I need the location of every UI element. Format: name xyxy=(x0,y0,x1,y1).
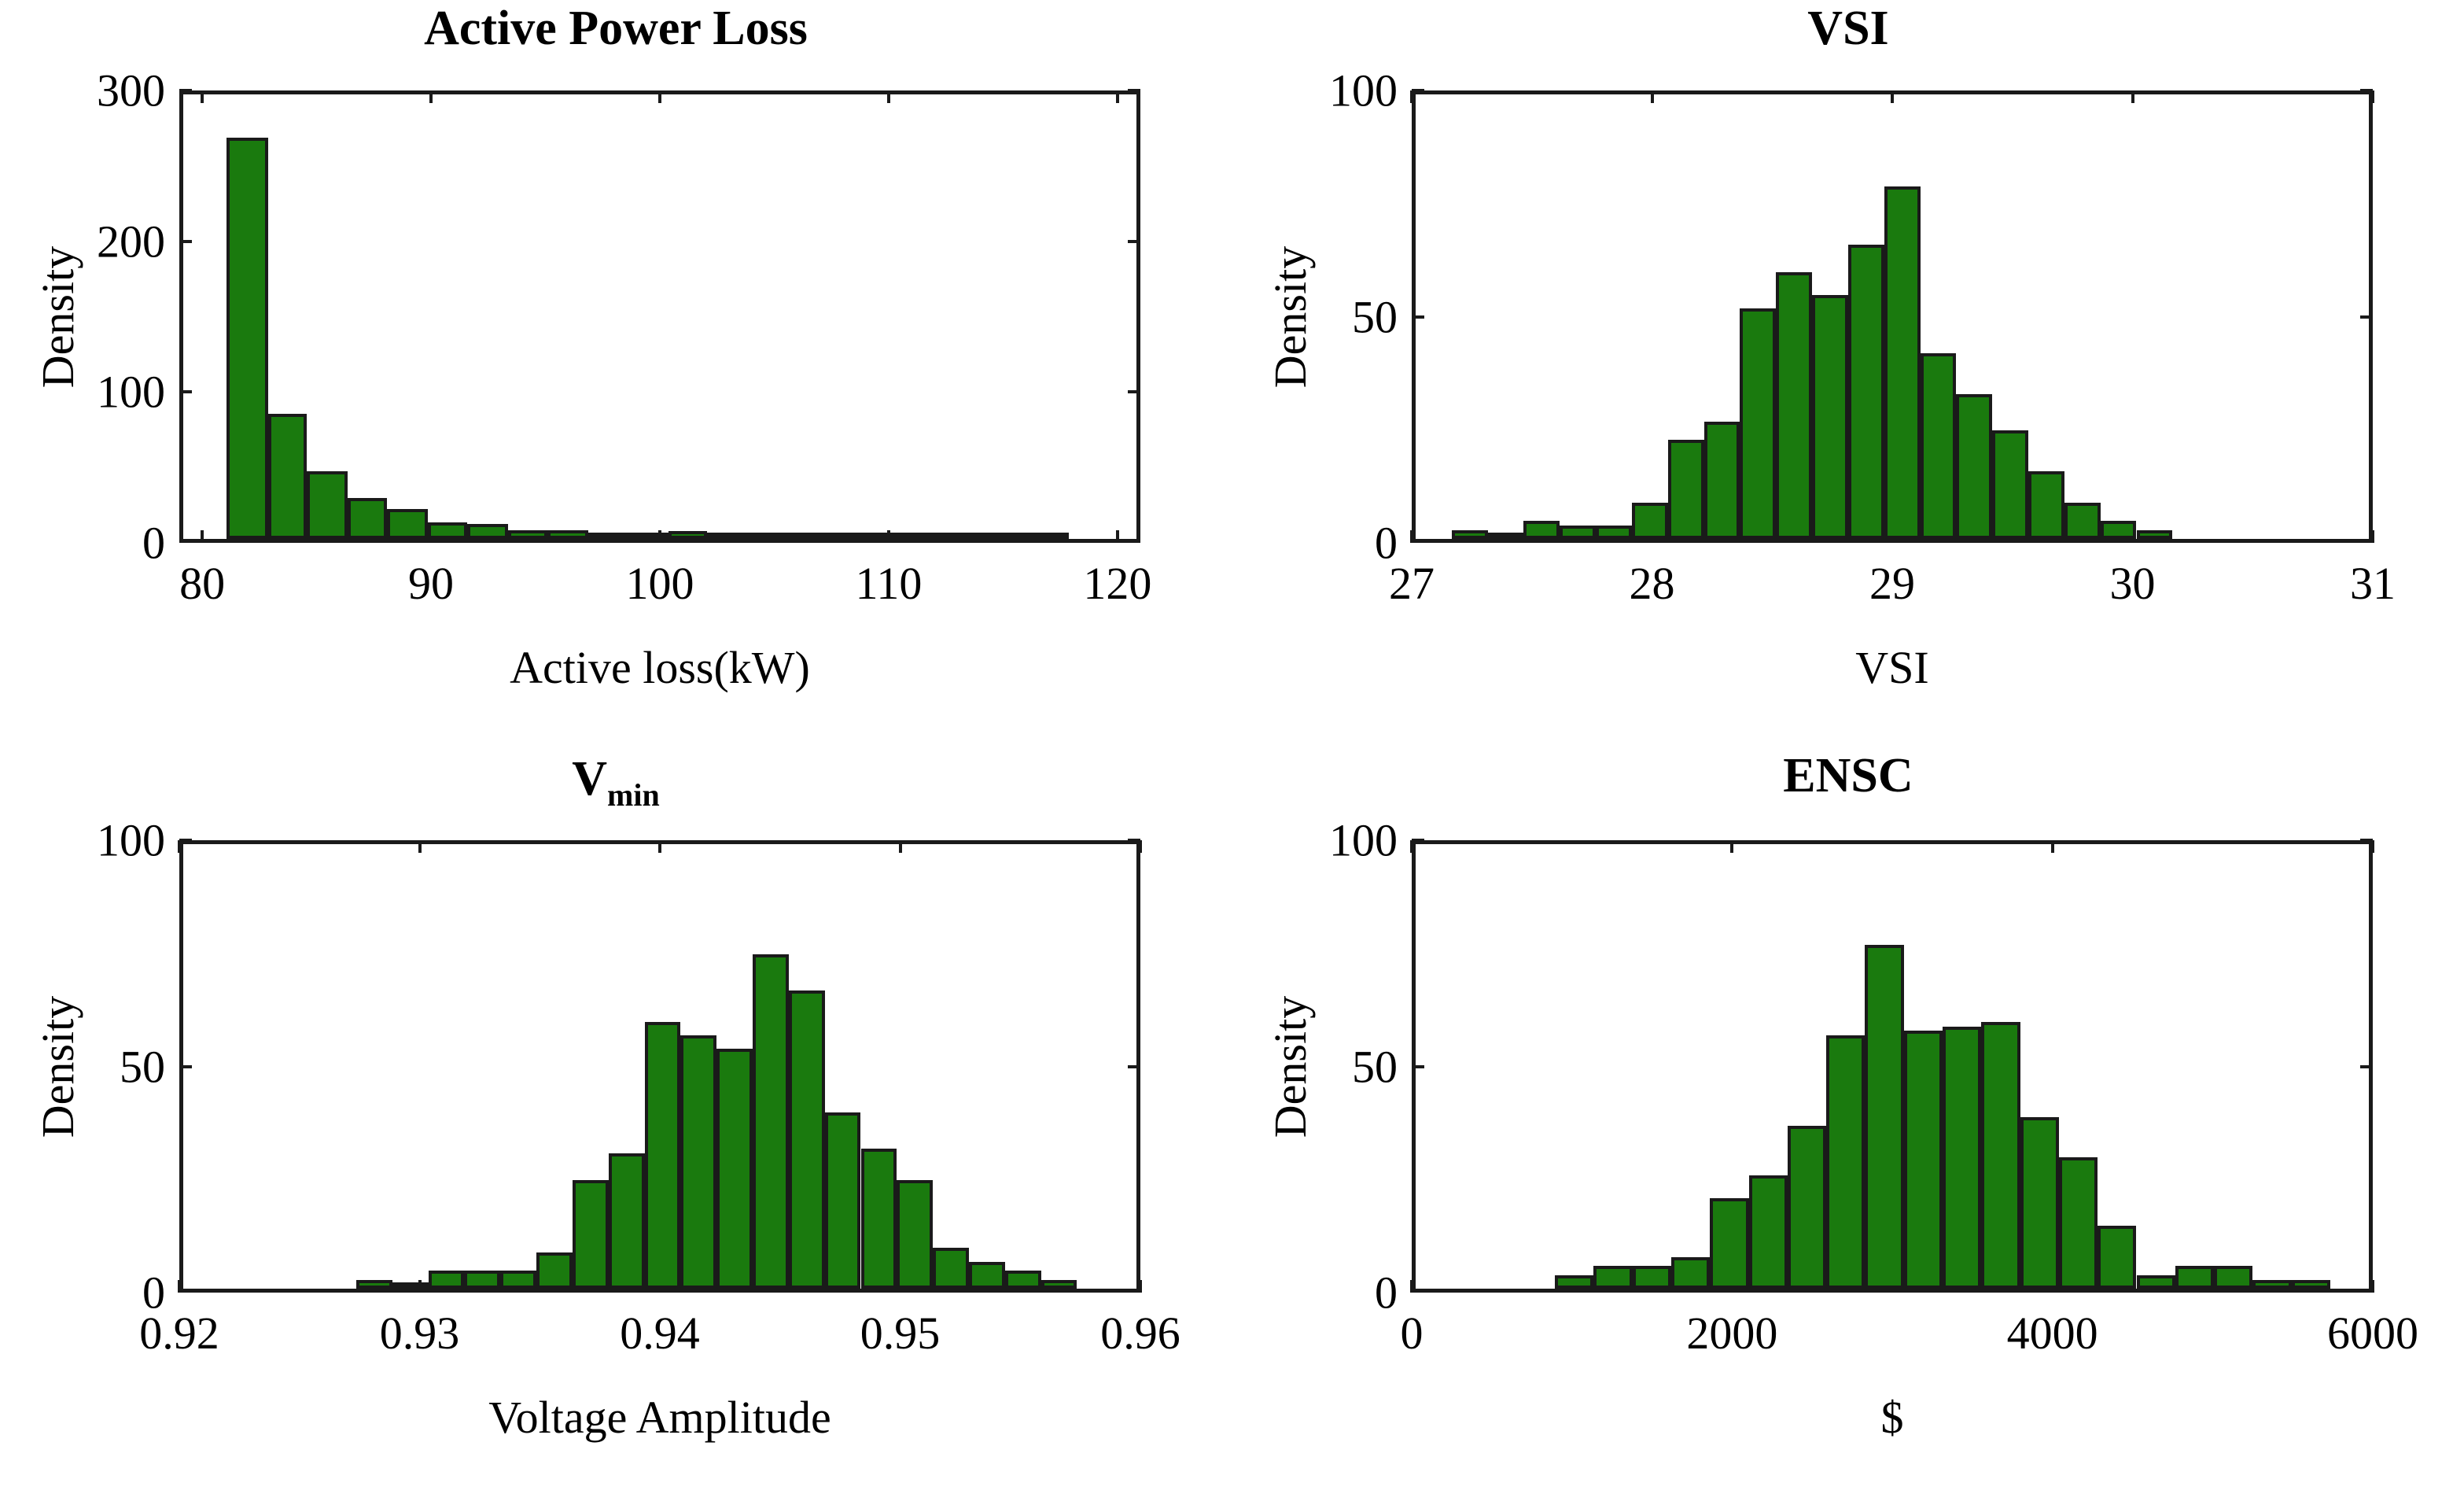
y-tick-mark xyxy=(2360,315,2373,319)
histogram-bar xyxy=(1596,526,1632,539)
histogram-bar xyxy=(933,1248,969,1289)
histogram-bar xyxy=(1555,1275,1593,1289)
x-tick-mark xyxy=(1410,530,1413,543)
histogram-bar xyxy=(467,524,508,539)
y-tick-label: 0 xyxy=(142,1267,165,1319)
histogram-bar xyxy=(645,1022,681,1289)
histogram-bar xyxy=(573,1180,609,1289)
histogram-bar xyxy=(1041,1280,1077,1289)
y-tick-mark xyxy=(1128,240,1140,243)
y-tick-mark xyxy=(179,839,192,842)
bar-group-active-power-loss xyxy=(183,94,1136,539)
histogram-bar xyxy=(787,533,828,539)
x-tick-mark xyxy=(2371,90,2374,103)
histogram-bar xyxy=(547,530,588,540)
x-tick-label: 80 xyxy=(179,557,225,610)
y-tick-label: 100 xyxy=(1329,814,1398,867)
x-tick-label: 30 xyxy=(2110,557,2156,610)
x-tick-label: 90 xyxy=(408,557,454,610)
x-axis-title-ensc: $ xyxy=(1881,1391,1904,1444)
x-tick-mark xyxy=(201,90,204,103)
histogram-bar xyxy=(1812,295,1848,540)
histogram-bar xyxy=(1710,1198,1748,1289)
y-tick-label: 100 xyxy=(1329,65,1398,117)
x-tick-mark xyxy=(1651,90,1654,103)
x-tick-label: 0 xyxy=(1401,1307,1424,1359)
histogram-bar xyxy=(464,1271,500,1289)
histogram-bar xyxy=(1593,1266,1632,1289)
plot-area-ensc xyxy=(1412,840,2373,1293)
histogram-bar xyxy=(2020,1117,2059,1289)
x-tick-mark xyxy=(887,90,890,103)
histogram-bar xyxy=(1776,272,1812,539)
histogram-figure: Active Power Loss 8090100110120010020030… xyxy=(0,0,2464,1494)
x-tick-label: 6000 xyxy=(2327,1307,2418,1359)
y-tick-label: 50 xyxy=(1352,1040,1398,1093)
histogram-bar xyxy=(348,498,386,539)
y-tick-mark xyxy=(2360,1065,2373,1068)
histogram-bar xyxy=(428,522,466,539)
histogram-bar xyxy=(2098,1226,2136,1289)
histogram-bar xyxy=(969,1262,1005,1289)
histogram-bar xyxy=(828,533,867,539)
y-tick-mark xyxy=(2360,89,2373,92)
histogram-bar xyxy=(1904,1031,1943,1289)
bar-group-vsi xyxy=(1416,94,2369,539)
x-tick-label: 100 xyxy=(626,557,694,610)
x-tick-mark xyxy=(2371,840,2374,853)
histogram-bar xyxy=(2028,471,2064,539)
histogram-bar xyxy=(2101,521,2137,539)
histogram-bar xyxy=(1560,526,1596,539)
x-tick-label: 0.95 xyxy=(860,1307,941,1359)
histogram-bar xyxy=(668,531,707,539)
histogram-bar xyxy=(2292,1280,2330,1289)
histogram-bar xyxy=(867,533,908,539)
histogram-bar xyxy=(1740,308,1776,539)
histogram-bar xyxy=(1632,503,1668,539)
y-tick-label: 200 xyxy=(97,215,165,267)
x-tick-mark xyxy=(1410,840,1413,853)
x-tick-mark xyxy=(2371,530,2374,543)
y-tick-mark xyxy=(1128,390,1140,393)
x-tick-label: 2000 xyxy=(1686,1307,1777,1359)
histogram-bar xyxy=(2064,503,2101,539)
histogram-bar xyxy=(268,414,307,539)
panel-title-vsi: VSI xyxy=(1232,3,2464,54)
y-tick-mark xyxy=(1412,839,1424,842)
histogram-bar xyxy=(789,990,825,1289)
histogram-bar xyxy=(588,533,627,539)
panel-title-active-power-loss: Active Power Loss xyxy=(0,3,1232,54)
bar-group-vmin xyxy=(183,844,1136,1289)
x-axis-title-vmin: Voltage Amplitude xyxy=(488,1391,831,1444)
histogram-bar xyxy=(1884,186,1921,540)
histogram-bar xyxy=(1826,1035,1865,1289)
histogram-bar xyxy=(749,533,787,539)
panel-ensc: ENSC 0200040006000050100 $ Density xyxy=(1232,747,2464,1494)
histogram-bar xyxy=(1848,245,1884,539)
histogram-bar xyxy=(1671,1257,1710,1289)
panel-vsi: VSI 2728293031050100 VSI Density xyxy=(1232,0,2464,747)
histogram-bar xyxy=(897,1180,933,1289)
histogram-bar xyxy=(1865,945,1903,1289)
histogram-bar xyxy=(989,533,1027,539)
histogram-bar xyxy=(1005,1271,1041,1289)
histogram-bar xyxy=(825,1112,861,1289)
histogram-bar xyxy=(753,954,789,1289)
bar-group-ensc xyxy=(1416,844,2369,1289)
histogram-bar xyxy=(680,1035,716,1289)
panel-active-power-loss: Active Power Loss 8090100110120010020030… xyxy=(0,0,1232,747)
plot-area-active-power-loss xyxy=(179,90,1140,543)
x-axis-title-active-power-loss: Active loss(kW) xyxy=(510,641,810,694)
y-tick-mark xyxy=(1128,89,1140,92)
histogram-bar xyxy=(1956,394,1992,539)
x-tick-mark xyxy=(1730,840,1733,853)
x-tick-mark xyxy=(1891,90,1894,103)
x-tick-label: 0.93 xyxy=(380,1307,460,1359)
histogram-bar xyxy=(1921,353,1957,539)
histogram-bar xyxy=(1668,440,1704,540)
x-tick-label: 0.96 xyxy=(1100,1307,1180,1359)
y-tick-mark xyxy=(1128,1065,1140,1068)
x-tick-mark xyxy=(899,840,902,853)
histogram-bar xyxy=(1633,1266,1671,1289)
y-tick-mark xyxy=(179,1065,192,1068)
histogram-bar xyxy=(1523,521,1560,539)
x-tick-label: 31 xyxy=(2350,557,2396,610)
histogram-bar xyxy=(1788,1126,1826,1289)
x-tick-mark xyxy=(658,90,661,103)
histogram-bar xyxy=(536,1252,573,1289)
x-tick-mark xyxy=(1139,1280,1142,1293)
panel-vmin: Vmin 0.920.930.940.950.96050100 Voltage … xyxy=(0,747,1232,1494)
histogram-bar xyxy=(387,509,428,539)
x-tick-mark xyxy=(1116,530,1119,543)
histogram-bar xyxy=(1992,430,2028,539)
y-tick-mark xyxy=(1412,315,1424,319)
x-axis-title-vsi: VSI xyxy=(1855,641,1928,694)
x-tick-mark xyxy=(1139,840,1142,853)
y-axis-title-active-power-loss: Density xyxy=(31,245,84,387)
y-tick-label: 100 xyxy=(97,366,165,419)
histogram-bar xyxy=(2214,1266,2252,1289)
x-tick-label: 4000 xyxy=(2007,1307,2098,1359)
y-tick-label: 100 xyxy=(97,814,165,867)
x-tick-mark xyxy=(178,1280,181,1293)
x-tick-label: 0.94 xyxy=(620,1307,700,1359)
histogram-bar xyxy=(1028,533,1069,539)
y-tick-mark xyxy=(1128,839,1140,842)
x-tick-label: 29 xyxy=(1869,557,1915,610)
histogram-bar xyxy=(861,1149,897,1289)
x-tick-mark xyxy=(2131,90,2134,103)
histogram-bar xyxy=(1749,1175,1788,1289)
histogram-bar xyxy=(500,1271,536,1289)
plot-area-vsi xyxy=(1412,90,2373,543)
y-tick-mark xyxy=(179,390,192,393)
histogram-bar xyxy=(627,533,668,539)
histogram-bar xyxy=(508,530,547,540)
y-tick-mark xyxy=(179,240,192,243)
histogram-bar xyxy=(2137,530,2173,540)
x-tick-mark xyxy=(1410,1280,1413,1293)
histogram-bar xyxy=(2175,1266,2214,1289)
histogram-bar xyxy=(307,471,348,539)
y-axis-title-ensc: Density xyxy=(1264,995,1317,1137)
y-tick-label: 0 xyxy=(142,517,165,570)
y-tick-label: 50 xyxy=(1352,290,1398,343)
x-tick-mark xyxy=(1116,90,1119,103)
y-tick-label: 50 xyxy=(120,1040,165,1093)
y-tick-label: 0 xyxy=(1375,517,1398,570)
y-tick-mark xyxy=(2360,839,2373,842)
y-tick-label: 300 xyxy=(97,65,165,117)
y-tick-mark xyxy=(179,89,192,92)
x-tick-label: 120 xyxy=(1083,557,1151,610)
histogram-bar xyxy=(1452,530,1488,540)
panel-title-vmin: Vmin xyxy=(0,754,1232,812)
histogram-bar xyxy=(1981,1022,2020,1289)
histogram-bar xyxy=(1704,422,1740,540)
x-tick-mark xyxy=(429,90,433,103)
panel-title-vmin-subscript: min xyxy=(607,777,660,813)
y-axis-title-vmin: Density xyxy=(31,995,84,1137)
panel-title-ensc: ENSC xyxy=(1232,751,2464,802)
x-tick-label: 28 xyxy=(1630,557,1675,610)
histogram-bar xyxy=(716,1049,753,1289)
plot-area-vmin xyxy=(179,840,1140,1293)
histogram-bar xyxy=(1488,533,1524,539)
x-tick-mark xyxy=(2051,840,2054,853)
histogram-bar xyxy=(429,1271,465,1289)
x-tick-mark xyxy=(178,840,181,853)
x-tick-mark xyxy=(1410,90,1413,103)
x-tick-mark xyxy=(658,840,661,853)
x-tick-mark xyxy=(201,530,204,543)
x-tick-label: 110 xyxy=(856,557,923,610)
histogram-bar xyxy=(609,1153,645,1289)
histogram-bar xyxy=(707,533,748,539)
y-tick-label: 0 xyxy=(1375,1267,1398,1319)
panel-title-vmin-main: V xyxy=(572,752,607,806)
histogram-bar xyxy=(2137,1275,2175,1289)
y-axis-title-vsi: Density xyxy=(1264,245,1317,387)
y-tick-mark xyxy=(1412,1065,1424,1068)
histogram-bar xyxy=(2059,1157,2098,1289)
histogram-bar xyxy=(227,138,267,539)
histogram-bar xyxy=(1943,1027,1981,1289)
x-tick-mark xyxy=(418,840,422,853)
y-tick-mark xyxy=(1412,89,1424,92)
histogram-bar xyxy=(392,1282,429,1289)
x-tick-mark xyxy=(2371,1280,2374,1293)
histogram-bar xyxy=(908,533,947,539)
histogram-bar xyxy=(356,1280,392,1289)
histogram-bar xyxy=(2252,1280,2291,1289)
histogram-bar xyxy=(948,533,989,539)
